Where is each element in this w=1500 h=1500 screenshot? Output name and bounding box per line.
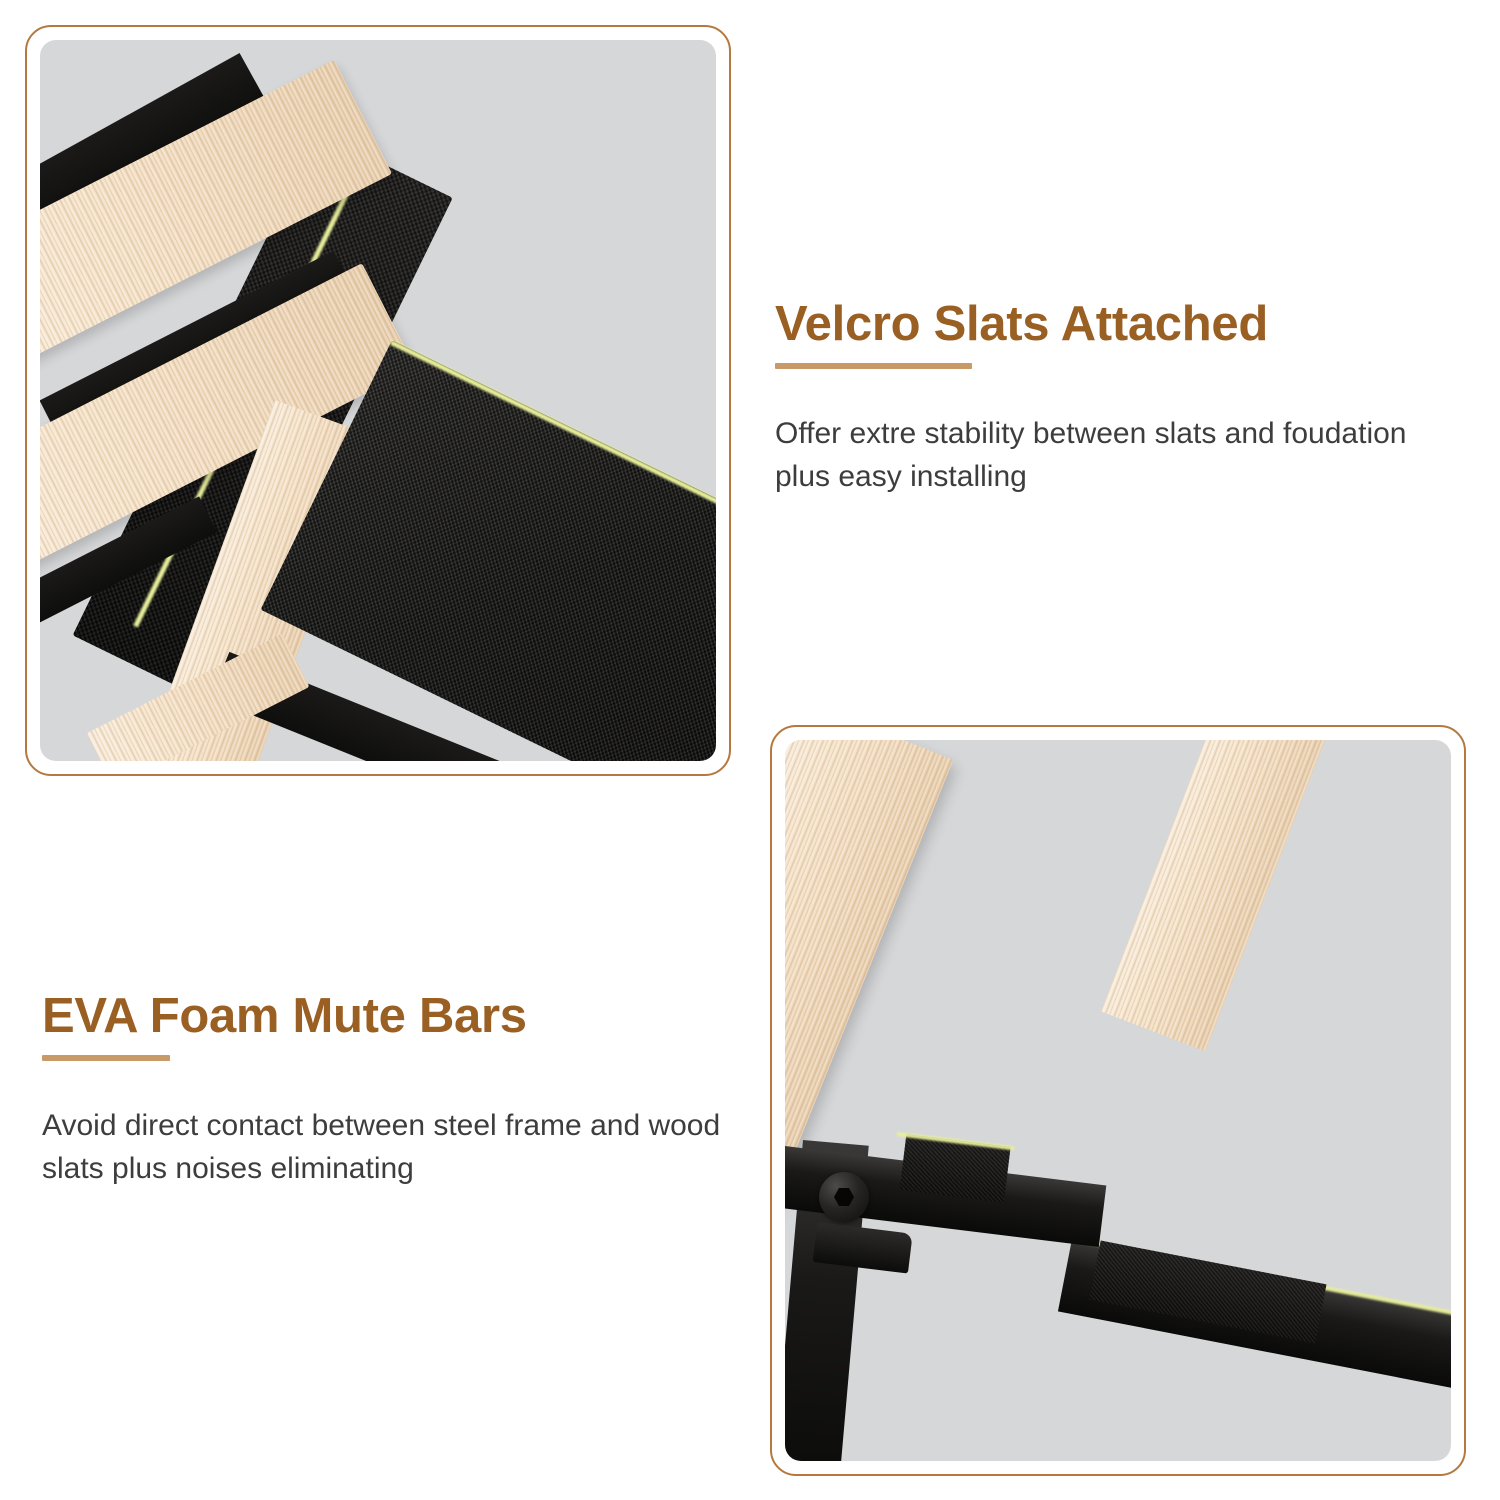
velcro-text-block: Velcro Slats Attached Offer extre stabil…	[775, 298, 1465, 499]
velcro-body-text: Offer extre stability between slats and …	[775, 369, 1465, 499]
eva-body-text: Avoid direct contact between steel frame…	[42, 1061, 742, 1191]
eva-photo	[785, 740, 1451, 1461]
velcro-heading: Velcro Slats Attached	[775, 298, 1465, 351]
eva-heading: EVA Foam Mute Bars	[42, 990, 742, 1043]
hex-bolt	[819, 1172, 869, 1222]
eva-photo-frame	[770, 725, 1466, 1476]
velcro-photo	[40, 40, 716, 761]
wood-slat-secondary	[1101, 740, 1360, 1052]
eva-text-block: EVA Foam Mute Bars Avoid direct contact …	[42, 990, 742, 1191]
velcro-photo-frame	[25, 25, 731, 776]
